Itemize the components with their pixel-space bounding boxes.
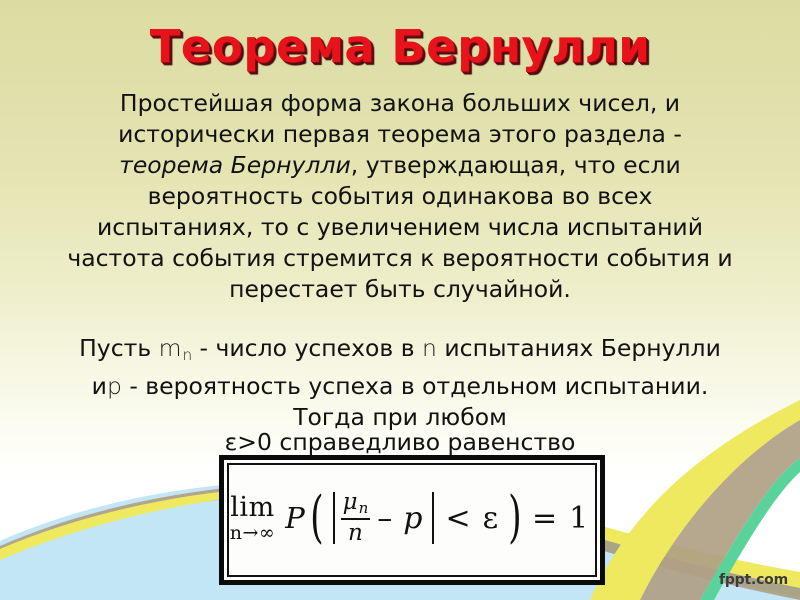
paragraph-line-5: испытаниях, то с увеличением числа испыт… — [4, 212, 796, 243]
page-title: Теорема Бернулли — [0, 20, 800, 73]
probability-symbol: P — [285, 501, 305, 535]
variable-n: n — [422, 334, 437, 362]
paragraph-line-7: перестает быть случайной. — [4, 274, 796, 305]
definitions-line-1-c: испытаниях Бернулли — [437, 334, 721, 362]
emphasis-theorem-name: теорема Бернулли — [119, 151, 351, 179]
paragraph-line-2: исторически первая теорема этого раздела… — [4, 119, 796, 150]
limit-operator: lim n→∞ — [230, 494, 275, 543]
less-than-operator: < — [445, 501, 470, 536]
fraction-denominator: n — [346, 522, 365, 545]
definitions-line-2-a: и — [92, 372, 107, 400]
slide: Теорема Бернулли Простейшая форма закона… — [0, 0, 800, 600]
definitions-line-2: иp - вероятность успеха в отдельном испы… — [4, 371, 796, 402]
minus-operator: – — [377, 501, 392, 536]
mu-symbol: μ — [343, 489, 358, 515]
definitions-line-2-b: - вероятность успеха в отдельном испытан… — [122, 372, 708, 400]
paragraph-line-1: Простейшая форма закона больших чисел, и — [4, 88, 796, 119]
variable-p: p — [107, 372, 122, 400]
variable-m-subscript: n — [182, 346, 193, 364]
definitions-line-1: Пусть mn - число успехов в n испытаниях … — [4, 333, 796, 371]
limit-subscript: n→∞ — [230, 524, 275, 543]
formula-box: lim n→∞ P ( μn n – p < ε ) = 1 — [219, 455, 605, 585]
mu-subscript: n — [358, 499, 369, 517]
paren-open: ( — [310, 498, 324, 538]
formula-expression: lim n→∞ P ( μn n – p < ε ) = 1 — [230, 491, 594, 545]
paragraph-line-3-rest: , утверждающая, что если — [351, 151, 681, 179]
formula-p: p — [403, 501, 422, 536]
paren-close: ) — [508, 498, 522, 538]
formula-inner-frame: lim n→∞ P ( μn n – p < ε ) = 1 — [227, 463, 597, 577]
fraction-mu-over-n: μn n — [341, 491, 371, 545]
formula-result: 1 — [569, 501, 588, 536]
limit-lim-label: lim — [230, 494, 274, 521]
abs-bar-left — [333, 492, 335, 544]
equals-operator: = — [532, 501, 557, 536]
definitions-paragraph: Пусть mn - число успехов в n испытаниях … — [4, 333, 796, 433]
paragraph-line-3: теорема Бернулли, утверждающая, что если — [4, 150, 796, 181]
paragraph-line-4: вероятность события одинакова во всех — [4, 181, 796, 212]
main-paragraph: Простейшая форма закона больших чисел, и… — [4, 88, 796, 305]
fraction-numerator: μn — [341, 491, 371, 516]
epsilon-symbol: ε — [483, 501, 499, 536]
variable-m: m — [159, 334, 182, 362]
definitions-line-1-b: - число успехов в — [192, 334, 422, 362]
definitions-line-1-a: Пусть — [79, 334, 159, 362]
watermark-fppt: fppt.com — [719, 572, 788, 588]
abs-bar-right — [432, 492, 434, 544]
paragraph-line-6: частота события стремится к вероятности … — [4, 243, 796, 274]
clipped-condition-line: ε>0 справедливо равенство — [4, 427, 796, 458]
